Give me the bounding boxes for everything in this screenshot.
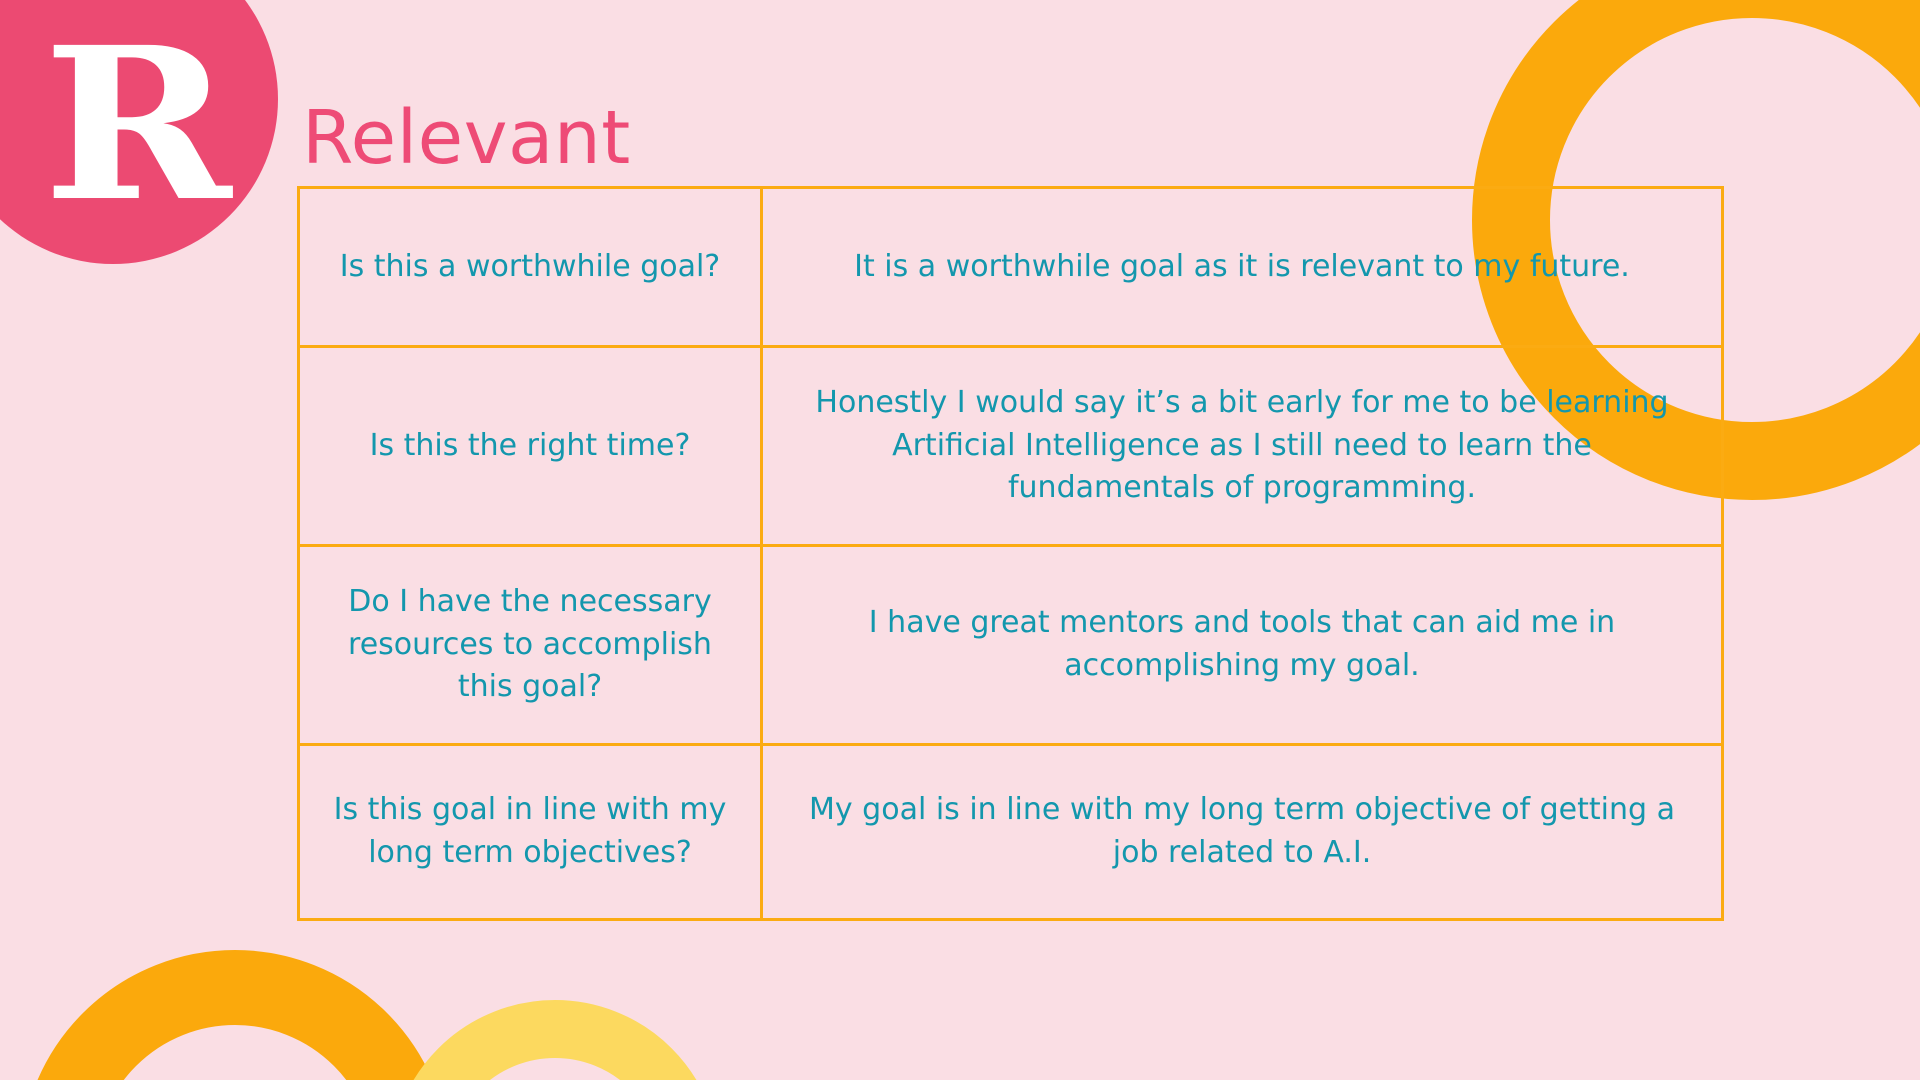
table-row: Is this a worthwhile goal? It is a worth…: [299, 188, 1723, 347]
letter-badge-circle: R: [0, 0, 278, 264]
table-row: Is this the right time? Honestly I would…: [299, 347, 1723, 546]
letter-badge-label: R: [43, 20, 229, 230]
answer-cell: I have great mentors and tools that can …: [762, 546, 1723, 745]
question-cell: Is this a worthwhile goal?: [299, 188, 762, 347]
answer-cell: Honestly I would say it’s a bit early fo…: [762, 347, 1723, 546]
table-row: Do I have the necessary resources to acc…: [299, 546, 1723, 745]
slide-canvas: R Relevant Is this a worthwhile goal? It…: [0, 0, 1920, 1080]
relevant-criteria-table: Is this a worthwhile goal? It is a worth…: [297, 186, 1724, 921]
page-title: Relevant: [302, 98, 631, 179]
yellow-ring-bottom-left-icon: [390, 1000, 720, 1080]
question-cell: Do I have the necessary resources to acc…: [299, 546, 762, 745]
question-cell: Is this the right time?: [299, 347, 762, 546]
answer-cell: It is a worthwhile goal as it is relevan…: [762, 188, 1723, 347]
answer-cell: My goal is in line with my long term obj…: [762, 745, 1723, 920]
question-cell: Is this goal in line with my long term o…: [299, 745, 762, 920]
orange-ring-bottom-left-icon: [20, 950, 450, 1080]
table-row: Is this goal in line with my long term o…: [299, 745, 1723, 920]
